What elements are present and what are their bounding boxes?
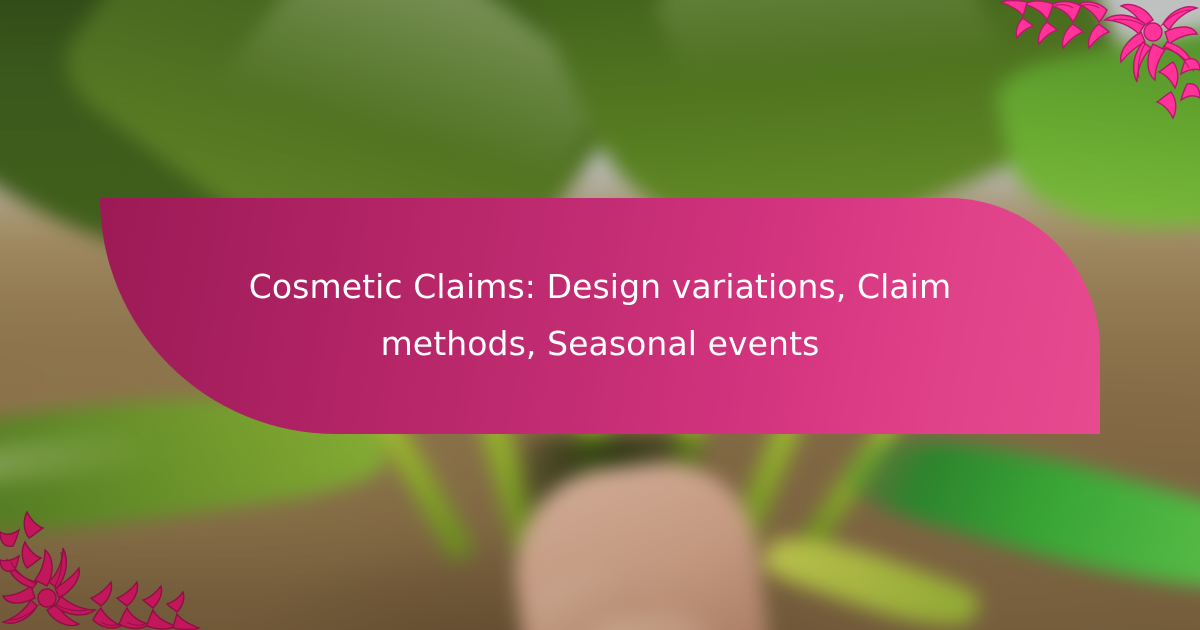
- page-title: Cosmetic Claims: Design variations, Clai…: [220, 259, 980, 373]
- title-banner: Cosmetic Claims: Design variations, Clai…: [100, 198, 1100, 434]
- banner-card: Cosmetic Claims: Design variations, Clai…: [0, 0, 1200, 630]
